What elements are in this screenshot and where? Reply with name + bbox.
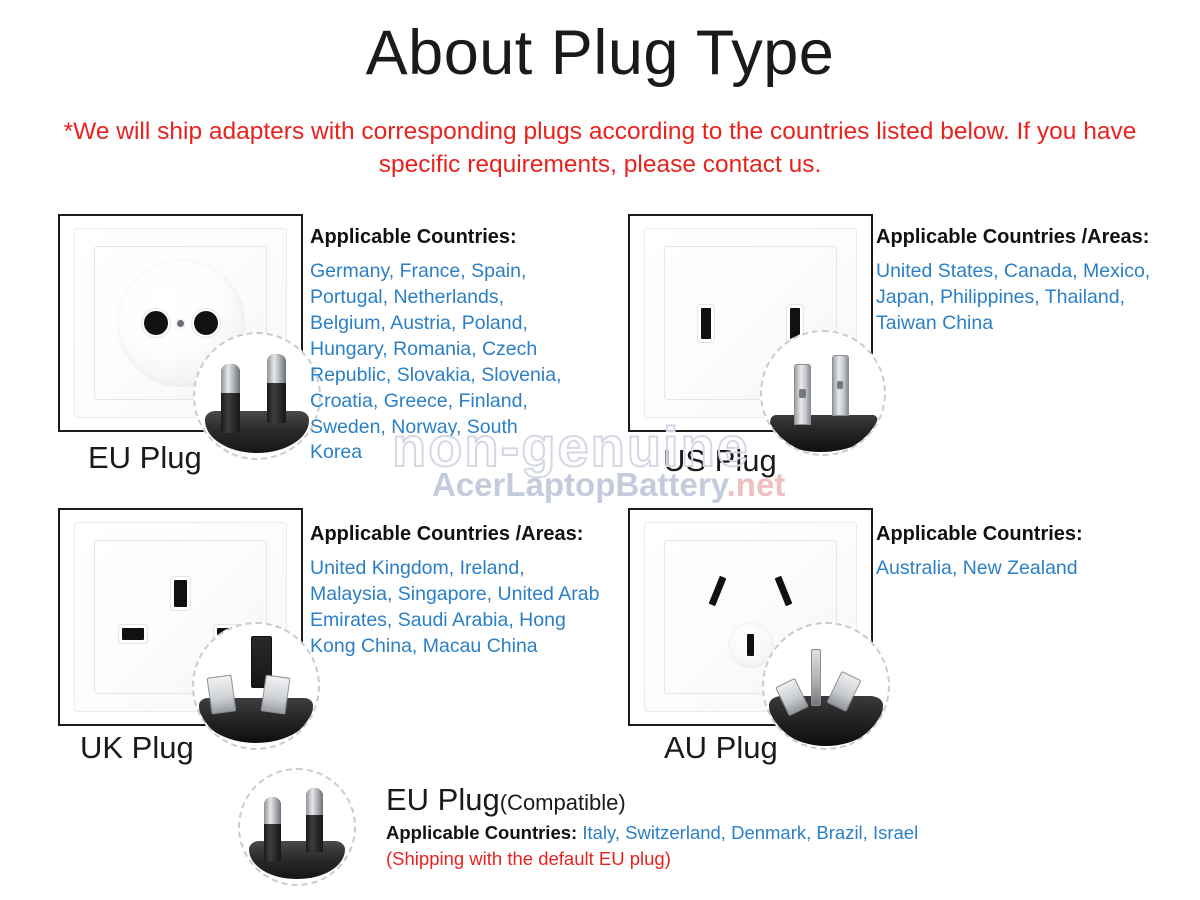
country-list-eu: Germany, France, Spain, Portugal, Nether… xyxy=(310,259,572,466)
country-heading-au: Applicable Countries: xyxy=(876,523,1083,546)
uk-blade-left xyxy=(206,675,236,715)
plug-body xyxy=(767,415,878,452)
au-earth-slot xyxy=(747,634,754,656)
us-plug-drawing xyxy=(762,332,884,454)
eu-pin-right xyxy=(306,788,323,852)
plug-label-au: AU Plug xyxy=(664,730,778,766)
plug-label-eu: EU Plug xyxy=(88,440,202,476)
eu-hole-left xyxy=(144,311,168,335)
au-slot-right xyxy=(775,576,793,606)
country-block-us: Applicable Countries /Areas: United Stat… xyxy=(876,226,1154,337)
eu-pin-left xyxy=(264,797,281,861)
us-blade-left xyxy=(794,364,811,425)
eu-plug-icon xyxy=(193,332,321,460)
plug-type-infographic: About Plug Type *We will ship adapters w… xyxy=(0,0,1200,900)
eu-pin-left xyxy=(221,364,240,433)
compatible-heading: Applicable Countries: xyxy=(386,822,577,843)
compatible-note: (Shipping with the default EU plug) xyxy=(386,848,671,870)
country-heading-us: Applicable Countries /Areas: xyxy=(876,226,1154,249)
eu-plug-compatible-drawing xyxy=(240,770,354,884)
shipping-note: *We will ship adapters with correspondin… xyxy=(60,116,1140,181)
eu-pin-right xyxy=(267,354,286,423)
plug-label-us: US Plug xyxy=(663,443,777,479)
plug-label-uk: UK Plug xyxy=(80,730,194,766)
compatible-title-sub: (Compatible) xyxy=(500,790,626,815)
compatible-countries: Italy, Switzerland, Denmark, Brazil, Isr… xyxy=(582,822,918,843)
eu-plug-drawing xyxy=(195,334,319,458)
uk-live-slot xyxy=(122,628,144,640)
au-plug-drawing xyxy=(764,624,888,748)
country-block-au: Applicable Countries: Australia, New Zea… xyxy=(876,523,1083,582)
uk-plug-drawing xyxy=(194,624,318,748)
au-plug-icon xyxy=(762,622,890,750)
eu-center-dot xyxy=(177,320,184,327)
eu-hole-right xyxy=(194,311,218,335)
country-list-us: United States, Canada, Mexico, Japan, Ph… xyxy=(876,259,1154,337)
au-blade-earth xyxy=(811,649,821,706)
country-block-eu: Applicable Countries: Germany, France, S… xyxy=(310,226,572,466)
country-block-uk: Applicable Countries /Areas: United King… xyxy=(310,523,602,660)
country-heading-uk: Applicable Countries /Areas: xyxy=(310,523,602,546)
uk-plug-icon xyxy=(192,622,320,750)
page-title: About Plug Type xyxy=(0,20,1200,86)
country-list-au: Australia, New Zealand xyxy=(876,556,1083,582)
compatible-title: EU Plug(Compatible) xyxy=(386,782,626,818)
compatible-countries-line: Applicable Countries: Italy, Switzerland… xyxy=(386,822,918,844)
country-list-uk: United Kingdom, Ireland, Malaysia, Singa… xyxy=(310,556,602,660)
au-slot-left xyxy=(709,576,727,606)
country-heading-eu: Applicable Countries: xyxy=(310,226,572,249)
us-blade-right xyxy=(832,355,849,416)
compatible-title-main: EU Plug xyxy=(386,782,500,817)
eu-plug-compatible-icon xyxy=(238,768,356,886)
uk-earth-slot xyxy=(174,580,187,607)
us-plug-icon xyxy=(760,330,886,456)
us-slot-left xyxy=(701,308,711,339)
